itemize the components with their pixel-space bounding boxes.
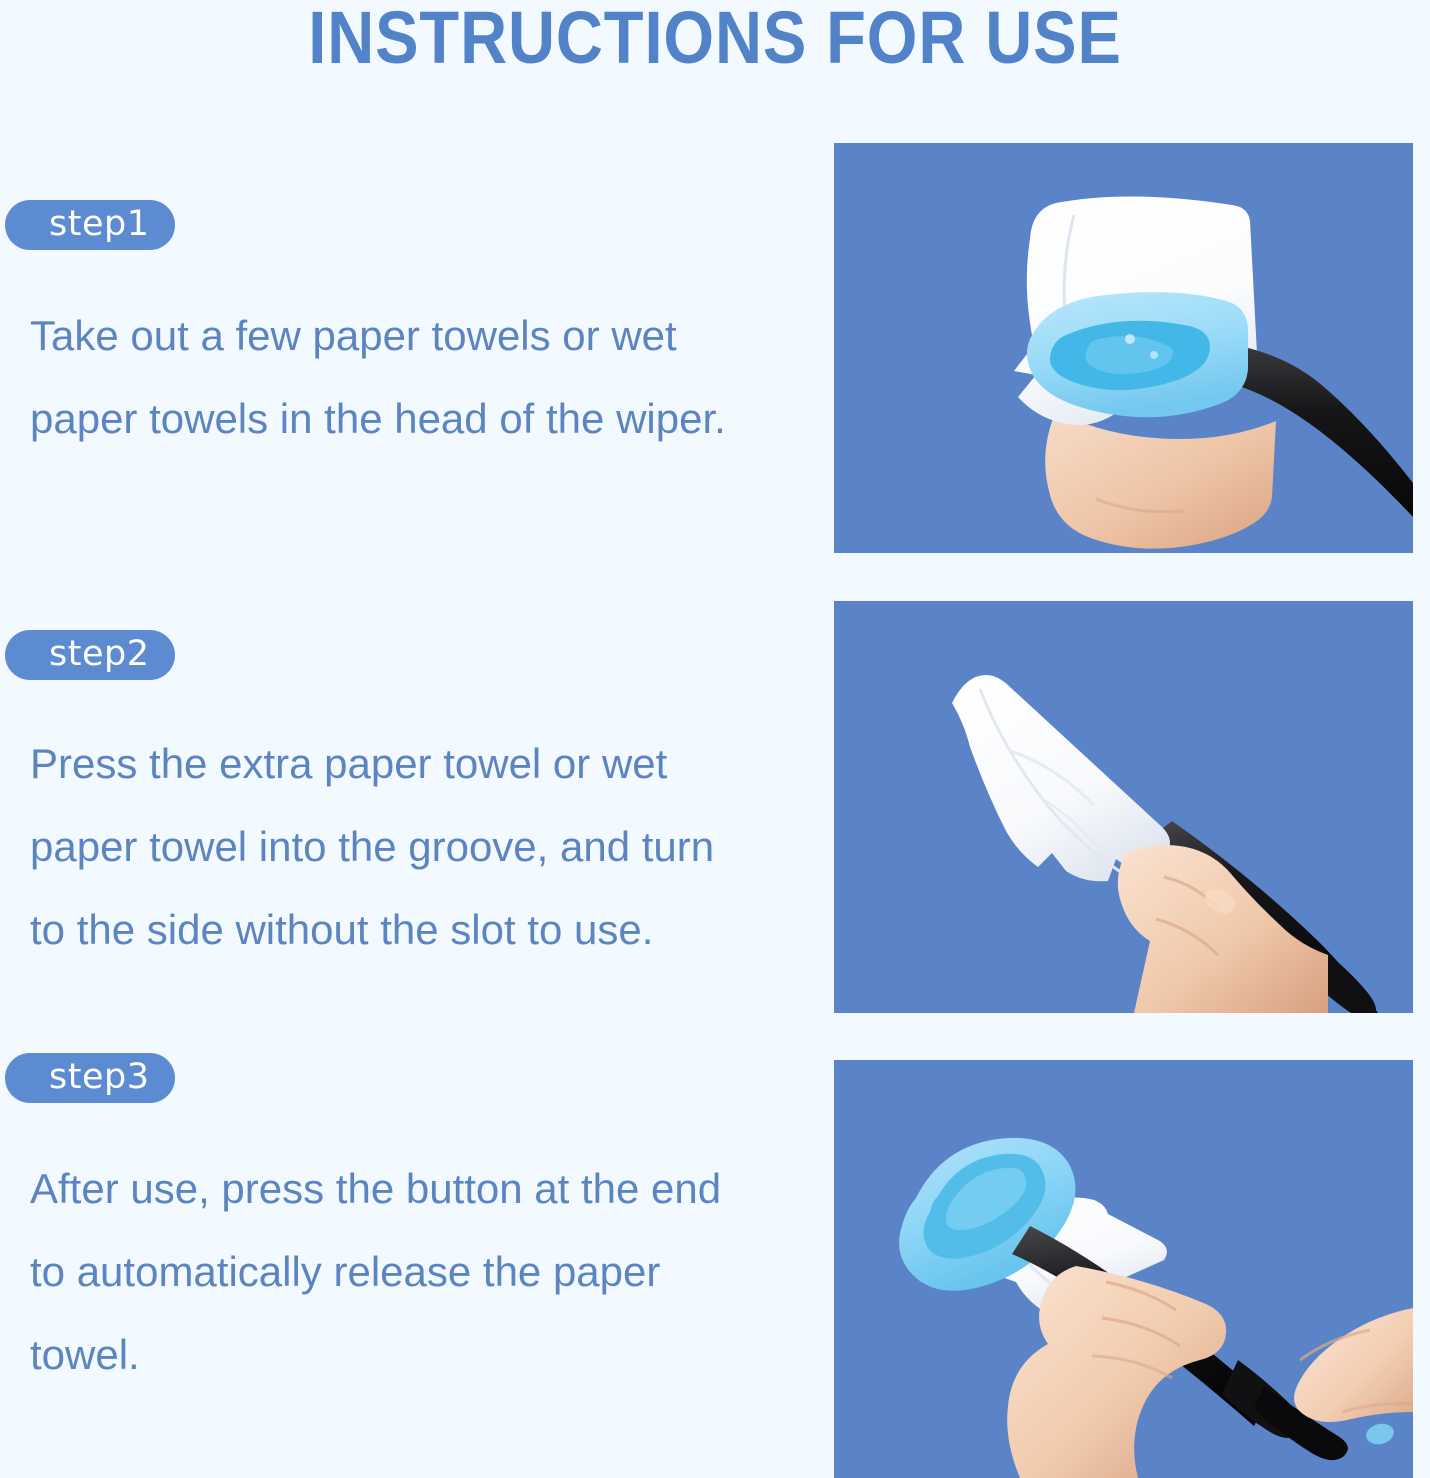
photo-1-illustration — [834, 143, 1413, 553]
groove-dot-2 — [1150, 351, 1158, 359]
step-3-photo — [834, 1060, 1413, 1478]
step-badge-2: step2 — [5, 630, 175, 680]
step-1-line-1: Take out a few paper towels or wet — [30, 312, 677, 359]
step-3-line-3: towel. — [30, 1331, 140, 1378]
step-2-photo — [834, 601, 1413, 1013]
step-2-line-1: Press the extra paper towel or wet — [30, 740, 667, 787]
steps-column: step1 Take out a few paper towels or wet… — [0, 0, 820, 1478]
step-2-line-2: paper towel into the groove, and turn — [30, 823, 714, 870]
step-3-line-1: After use, press the button at the end — [30, 1165, 721, 1212]
step-1-photo — [834, 143, 1413, 553]
step-text-2: Press the extra paper towel or wet paper… — [0, 722, 820, 971]
light-blue-silicone-head — [1027, 292, 1248, 417]
step-block-3: step3 After use, press the button at the… — [0, 1053, 820, 1396]
step-badge-3: step3 — [5, 1053, 175, 1103]
photo-2-illustration — [834, 601, 1413, 1013]
step-1-line-2: paper towels in the head of the wiper. — [30, 395, 726, 442]
step-2-line-3: to the side without the slot to use. — [30, 906, 653, 953]
step-badge-1: step1 — [5, 200, 175, 250]
step-text-1: Take out a few paper towels or wet paper… — [0, 294, 820, 460]
step-text-3: After use, press the button at the end t… — [0, 1147, 820, 1396]
step-block-1: step1 Take out a few paper towels or wet… — [0, 200, 820, 460]
photo-3-illustration — [834, 1060, 1413, 1478]
step-3-line-2: to automatically release the paper — [30, 1248, 660, 1295]
step-block-2: step2 Press the extra paper towel or wet… — [0, 630, 820, 971]
groove-dot-1 — [1125, 334, 1135, 344]
